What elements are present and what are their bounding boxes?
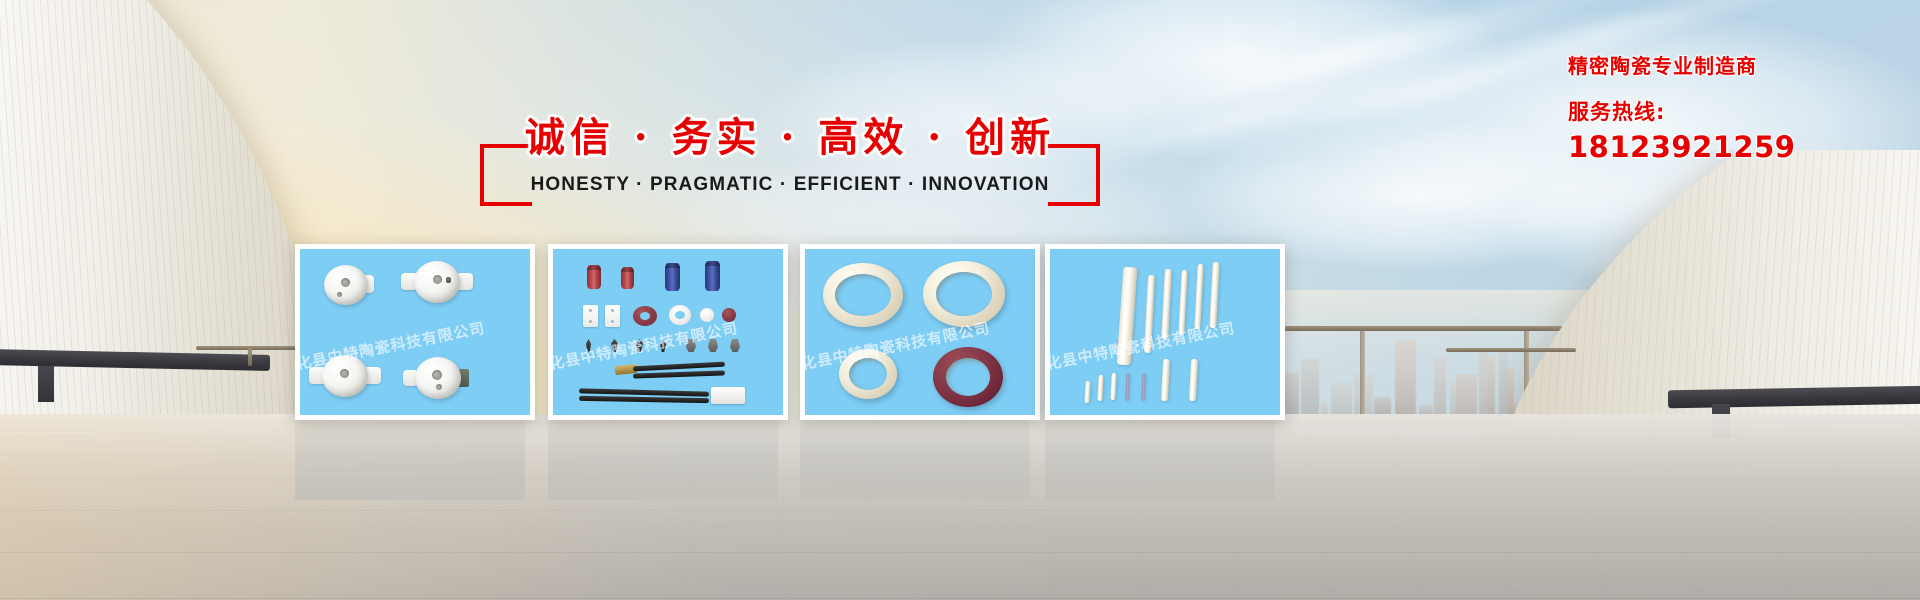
metal-contact — [686, 339, 696, 352]
ceramic-tip — [660, 340, 666, 352]
contact-block: 精密陶瓷专业制造商 服务热线: 18123921259 — [1568, 50, 1898, 164]
ceramic-ring-white — [669, 305, 691, 325]
metal-contact — [730, 339, 740, 352]
hotline-label: 服务热线: — [1568, 96, 1898, 126]
ceramic-rod — [1144, 275, 1155, 353]
ceramic-lamp-holder — [324, 265, 368, 305]
hotline-phone-number[interactable]: 18123921259 — [1568, 130, 1898, 164]
ceramic-plate — [605, 305, 620, 327]
slogan-block: 诚信 · 务实 · 高效 · 创新 HONESTY · PRAGMATIC · … — [480, 108, 1100, 208]
ceramic-sleeve-red — [621, 267, 634, 289]
ceramic-rod-medium — [1161, 359, 1170, 401]
ceramic-rod-short — [1097, 375, 1103, 401]
ceramic-cap-white — [700, 308, 714, 322]
ceramic-lamp-holder — [415, 357, 461, 399]
bracket-bottom-right — [1048, 202, 1100, 206]
ceramic-tip — [611, 339, 618, 352]
ceramic-sleeve-blue — [705, 261, 720, 291]
ceramic-rod-medium — [1189, 359, 1198, 401]
ceramic-rod-short — [1110, 373, 1116, 400]
ceramic-rod — [1161, 269, 1172, 339]
product-panel-components[interactable]: 新化县中特陶瓷科技有限公司 — [548, 244, 788, 420]
ceramic-sleeve-red — [587, 265, 601, 289]
ceramic-rod — [1194, 264, 1203, 329]
product-panel-lamp-holders[interactable]: 新化县中特陶瓷科技有限公司 — [295, 244, 535, 420]
cable — [579, 396, 709, 403]
ceramic-rod-short — [1084, 381, 1090, 403]
ceramic-rod-thick — [1117, 267, 1138, 366]
ceramic-tip — [586, 339, 591, 353]
ceramic-pin — [1141, 373, 1145, 401]
slogan-english: HONESTY · PRAGMATIC · EFFICIENT · INNOVA… — [480, 174, 1100, 196]
bracket-bottom-left — [480, 202, 532, 206]
company-tagline: 精密陶瓷专业制造商 — [1568, 50, 1898, 79]
ceramic-rod — [1209, 262, 1219, 328]
ceramic-ring-maroon — [933, 347, 1003, 407]
ceramic-sleeve-blue — [665, 263, 680, 291]
ceramic-rod — [1178, 270, 1187, 335]
slogan-chinese: 诚信 · 务实 · 高效 · 创新 — [480, 108, 1100, 168]
ceramic-lamp-holder — [414, 261, 460, 303]
ceramic-lamp-holder — [322, 355, 368, 397]
hero-banner: 新化县中特陶瓷科技有限公司 — [0, 0, 1920, 600]
ceramic-pin — [1125, 373, 1129, 401]
ceramic-cap-dark — [722, 308, 736, 322]
ceramic-ring-large — [923, 261, 1005, 327]
ceramic-ring-dark — [633, 306, 657, 326]
cable — [633, 370, 725, 378]
cable-connector — [711, 387, 745, 404]
ceramic-ring-large — [823, 263, 903, 327]
product-panel-rods[interactable]: 新化县中特陶瓷科技有限公司 — [1045, 244, 1285, 420]
product-panel-rings[interactable]: 新化县中特陶瓷科技有限公司 — [800, 244, 1040, 420]
ceramic-ring-small — [839, 349, 897, 399]
ceramic-plate — [583, 305, 598, 327]
ceramic-tip — [636, 339, 643, 352]
metal-contact — [708, 339, 718, 352]
